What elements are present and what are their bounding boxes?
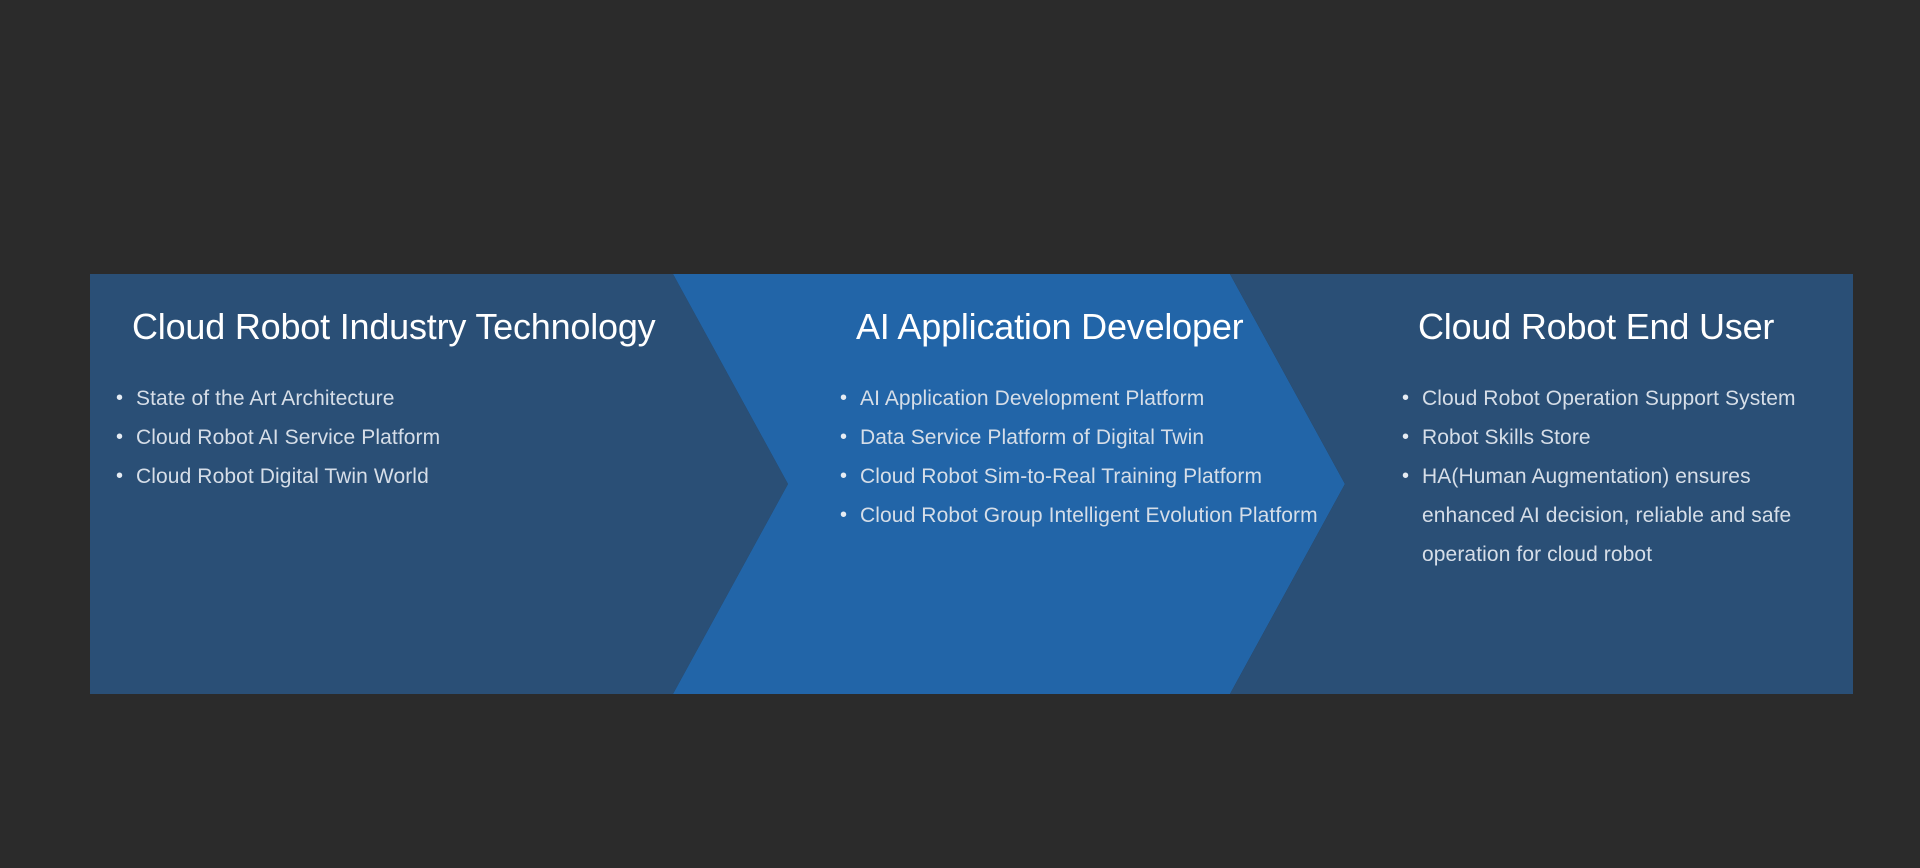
list-item-label: State of the Art Architecture (136, 387, 395, 410)
list-item: • Cloud Robot Digital Twin World (112, 457, 732, 496)
panel-2-bullet-list: • AI Application Development Platform • … (836, 379, 1356, 535)
list-item: • Robot Skills Store (1398, 418, 1838, 457)
panel-3-title: Cloud Robot End User (1418, 306, 1774, 347)
bullet-dot-icon: • (840, 496, 860, 535)
list-item: • HA(Human Augmentation) ensures enhance… (1398, 457, 1838, 574)
list-item-label: AI Application Development Platform (860, 387, 1204, 410)
bullet-dot-icon: • (1402, 457, 1422, 496)
bullet-dot-icon: • (1402, 379, 1422, 418)
list-item: • AI Application Development Platform (836, 379, 1356, 418)
list-item-label: Cloud Robot Sim-to-Real Training Platfor… (860, 465, 1262, 488)
panel-1-bullet-list: • State of the Art Architecture • Cloud … (112, 379, 732, 496)
list-item: • Cloud Robot Group Intelligent Evolutio… (836, 496, 1356, 535)
panel-3-bullet-list: • Cloud Robot Operation Support System •… (1398, 379, 1838, 574)
panel-cloud-robot-industry-technology: Cloud Robot Industry Technology • State … (90, 274, 790, 694)
list-item-label: Data Service Platform of Digital Twin (860, 426, 1204, 449)
bullet-dot-icon: • (840, 379, 860, 418)
list-item-label: Cloud Robot AI Service Platform (136, 426, 440, 449)
list-item: • Data Service Platform of Digital Twin (836, 418, 1356, 457)
panel-2-title: AI Application Developer (856, 306, 1243, 347)
list-item-label: Cloud Robot Digital Twin World (136, 465, 429, 488)
list-item: • Cloud Robot AI Service Platform (112, 418, 732, 457)
bullet-dot-icon: • (116, 379, 136, 418)
bullet-dot-icon: • (1402, 418, 1422, 457)
chevron-banner: Cloud Robot Industry Technology • State … (90, 274, 1853, 694)
panel-1-title: Cloud Robot Industry Technology (132, 306, 655, 347)
list-item-label: HA(Human Augmentation) ensures enhanced … (1422, 465, 1791, 566)
bullet-dot-icon: • (116, 457, 136, 496)
list-item: • State of the Art Architecture (112, 379, 732, 418)
panel-cloud-robot-end-user: Cloud Robot End User • Cloud Robot Opera… (1350, 274, 1853, 694)
bullet-dot-icon: • (840, 418, 860, 457)
bullet-dot-icon: • (840, 457, 860, 496)
panel-ai-application-developer: AI Application Developer • AI Applicatio… (790, 274, 1350, 694)
bullet-dot-icon: • (116, 418, 136, 457)
list-item-label: Robot Skills Store (1422, 426, 1591, 449)
list-item: • Cloud Robot Operation Support System (1398, 379, 1838, 418)
list-item-label: Cloud Robot Group Intelligent Evolution … (860, 504, 1318, 527)
list-item-label: Cloud Robot Operation Support System (1422, 387, 1796, 410)
list-item: • Cloud Robot Sim-to-Real Training Platf… (836, 457, 1356, 496)
